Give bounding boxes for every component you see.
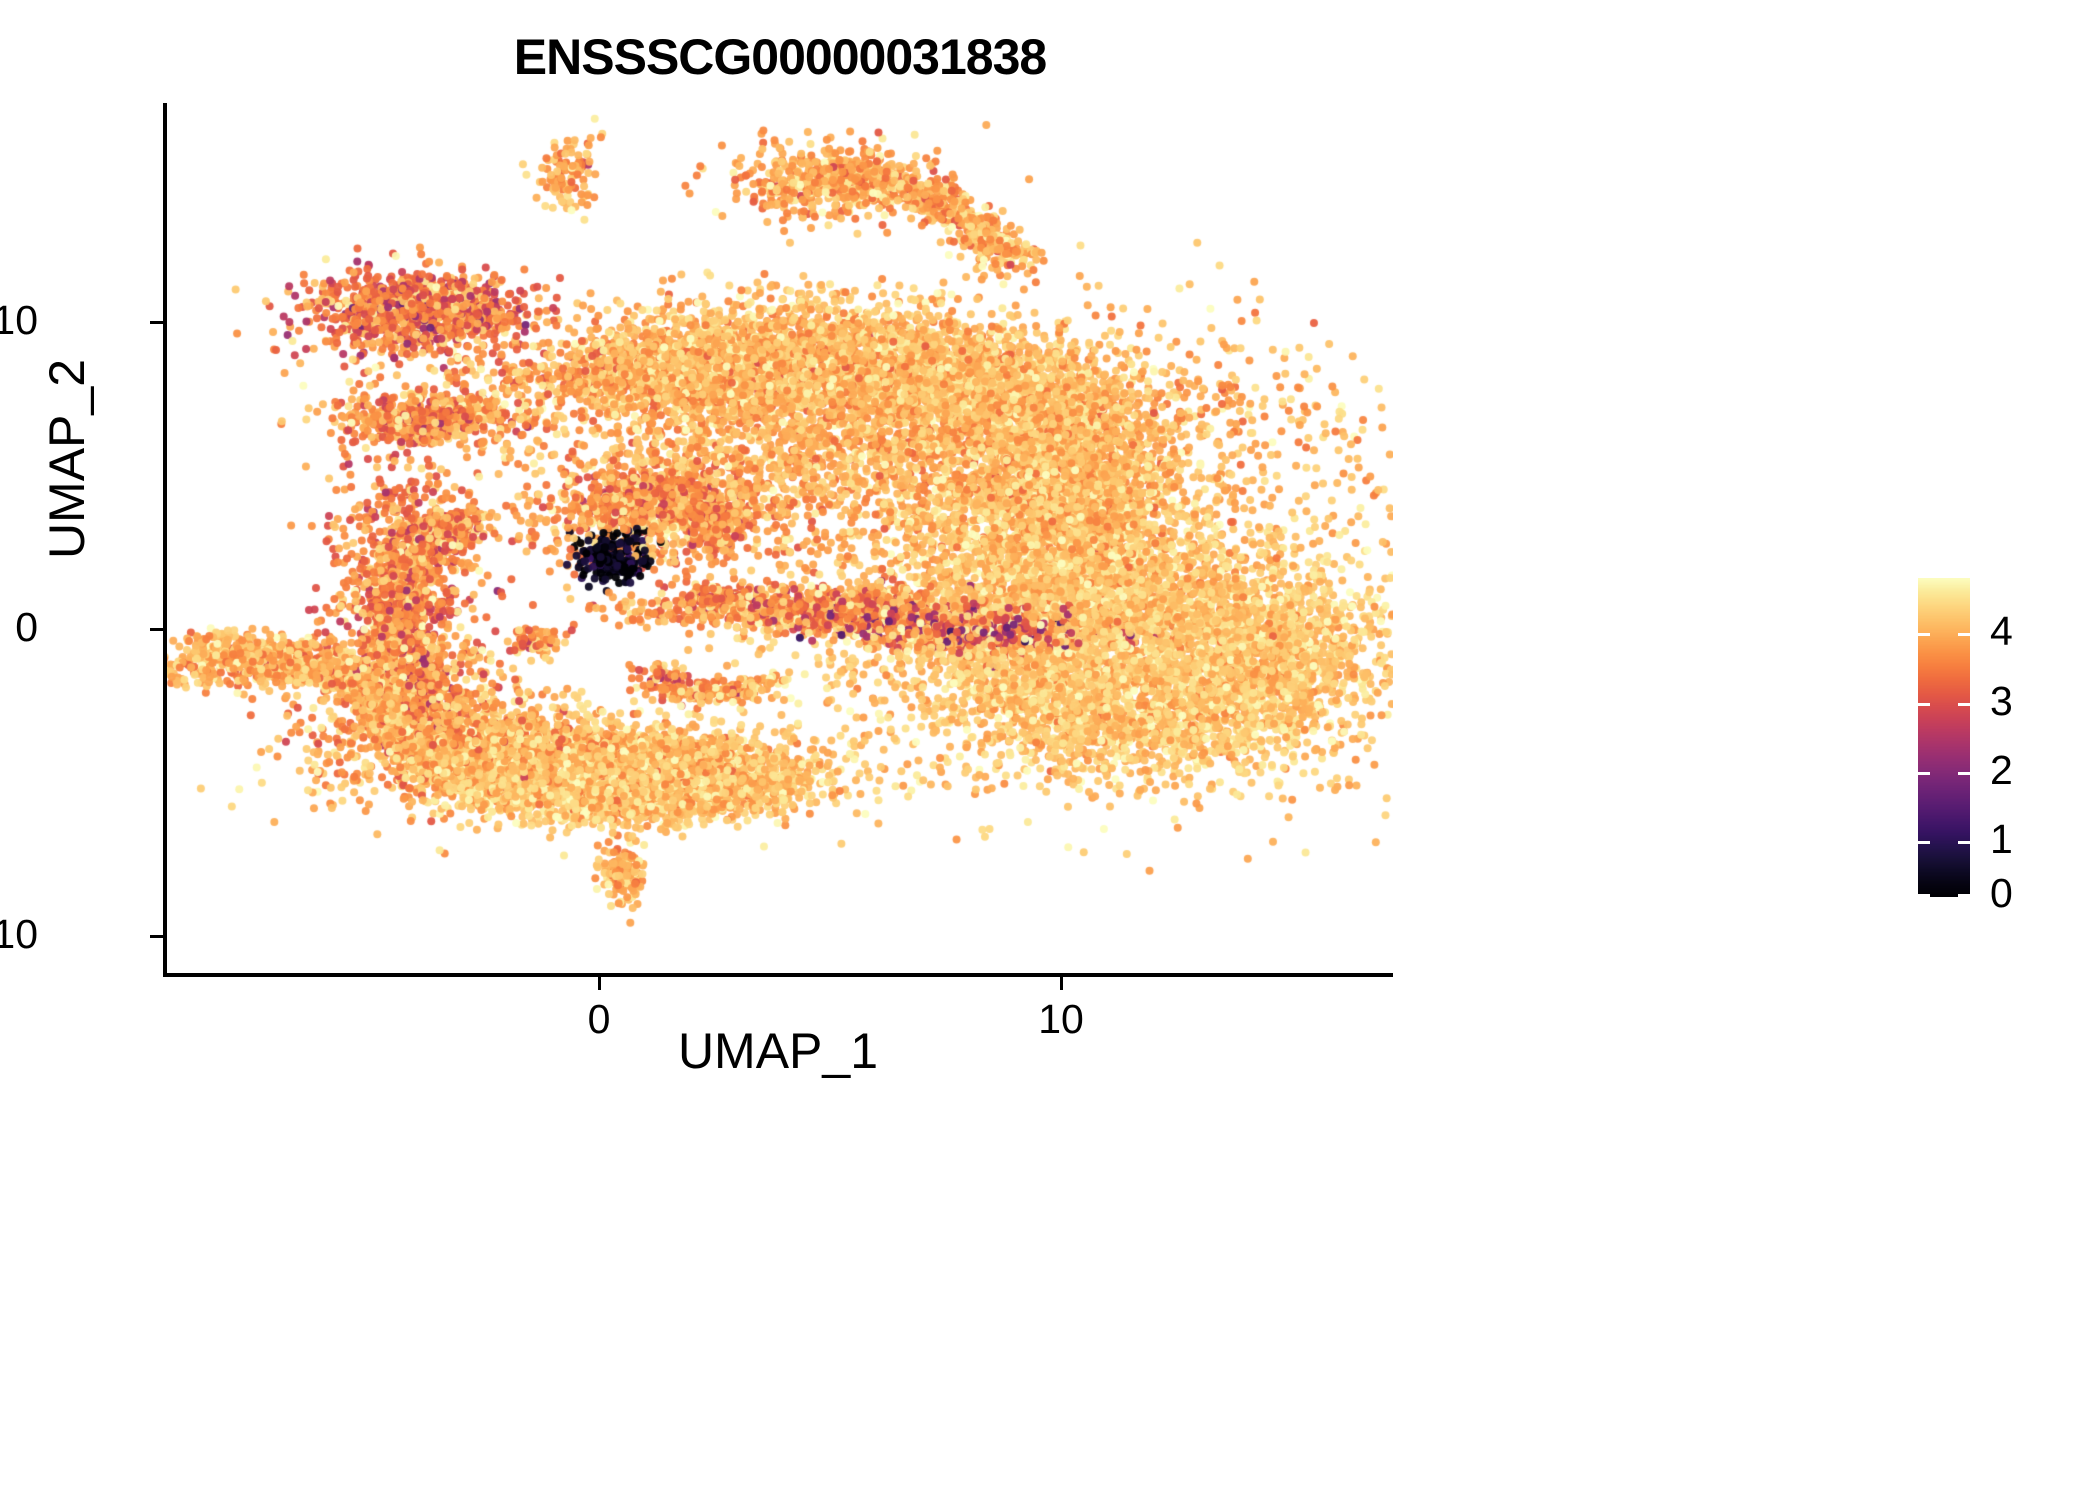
colorbar-tick-4-right [1958, 633, 1970, 636]
colorbar-tick-3-left [1918, 703, 1930, 706]
colorbar-tick-1-right [1958, 841, 1970, 844]
y-tick-mark-m10 [150, 935, 163, 938]
x-axis-line [163, 973, 1393, 977]
y-tick-label-m10: -10 [0, 911, 38, 958]
y-tick-label-10: 10 [0, 297, 38, 344]
page-title: ENSSSCG00000031838 [0, 28, 1560, 86]
colorbar-label-1: 1 [1990, 819, 2013, 860]
x-axis-label: UMAP_1 [383, 1022, 1173, 1080]
y-tick-label-0: 0 [15, 604, 38, 651]
umap-feature-plot: ENSSSCG00000031838 10 0 -10 0 10 UMAP_2 … [0, 0, 2100, 1500]
colorbar-label-0: 0 [1990, 873, 2013, 914]
colorbar-label-3: 3 [1990, 681, 2013, 722]
y-tick-mark-10 [150, 321, 163, 324]
colorbar-tick-1-left [1918, 841, 1930, 844]
y-axis-line [163, 103, 167, 975]
y-axis-label: UMAP_2 [38, 299, 96, 619]
colorbar-gradient [1918, 578, 1970, 897]
colorbar-tick-2-left [1918, 772, 1930, 775]
colorbar-tick-2-right [1958, 772, 1970, 775]
colorbar-tick-4-left [1918, 633, 1930, 636]
colorbar-legend: 4 3 2 1 0 [1918, 578, 2078, 908]
x-tick-mark-0 [598, 977, 601, 990]
y-tick-mark-0 [150, 628, 163, 631]
colorbar-label-4: 4 [1990, 611, 2013, 652]
scatter-plot-canvas [163, 103, 1393, 975]
colorbar-tick-0-right [1958, 894, 1970, 897]
colorbar-tick-0-left [1918, 894, 1930, 897]
colorbar-label-2: 2 [1990, 750, 2013, 791]
x-tick-mark-10 [1060, 977, 1063, 990]
colorbar-tick-3-right [1958, 703, 1970, 706]
